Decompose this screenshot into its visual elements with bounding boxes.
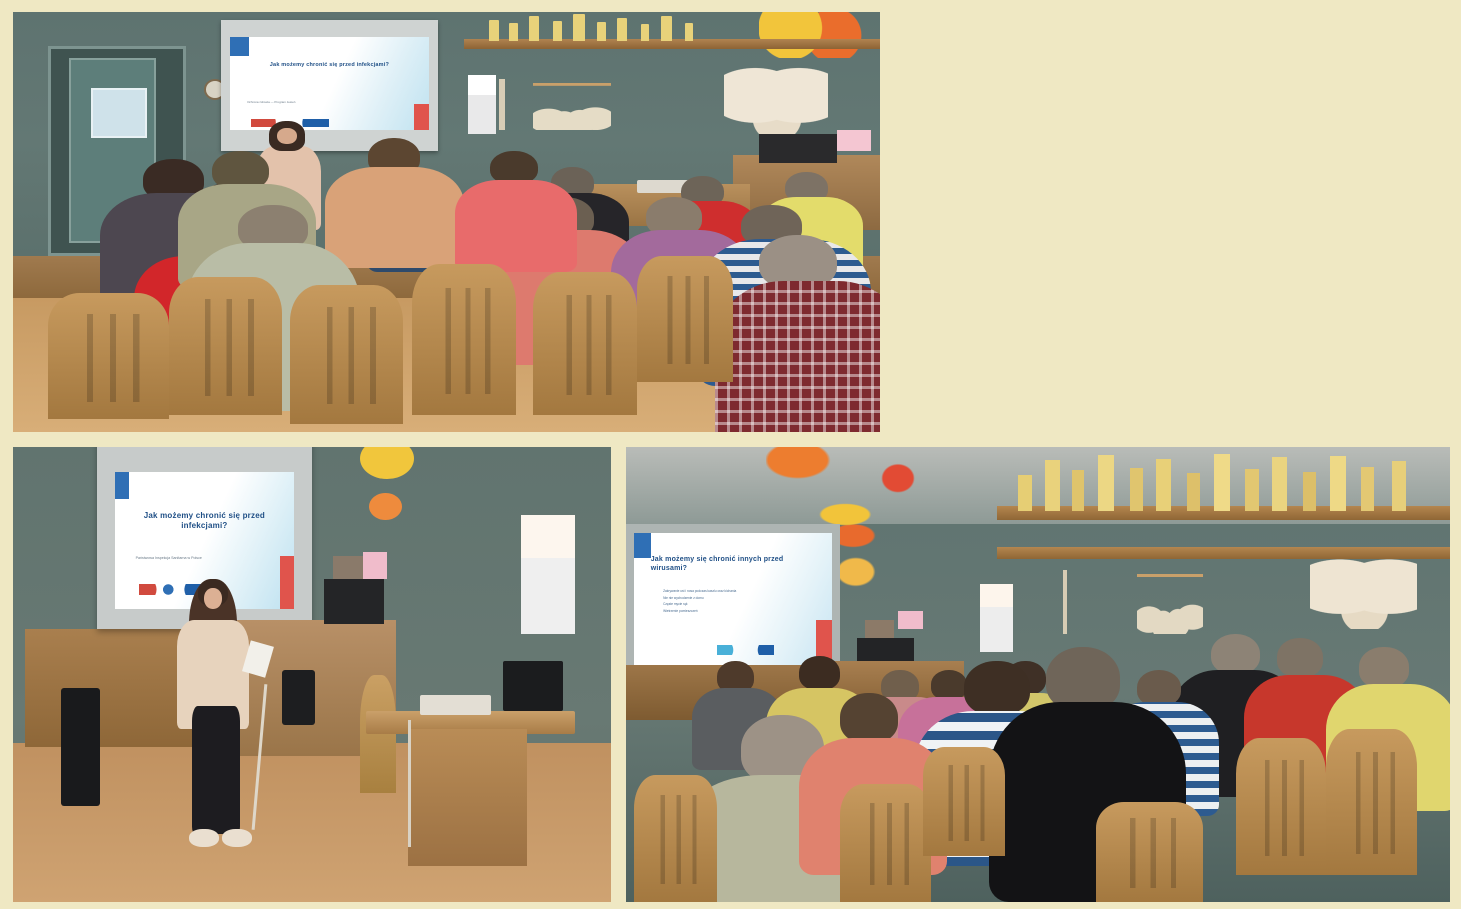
slide-title: Jak możemy się chronić innych przed wiru… [651,556,816,574]
presenter-shoe [222,829,252,847]
slide-corner-blue [634,533,650,558]
chair [533,272,637,415]
chair [290,285,403,424]
slide-bullet: Częste mycie rąk [663,601,803,608]
audience-body [325,167,464,268]
framed-picture [837,130,872,151]
trophy-row [481,12,880,41]
slide-corner-red [414,104,430,129]
chair [169,277,282,416]
wall-calendar [468,75,496,134]
slide-bullet: Wietrzenie pomieszczeń [663,608,803,615]
audience-body [455,180,576,272]
power-cable [408,720,412,847]
presenter-face [277,128,297,145]
photo-presenter-standing: Jak możemy chronić się przed infekcjami?… [13,447,611,902]
presenter-trousers [192,706,240,833]
poster-root: Jak możemy chronić się przed infekcjami?… [0,0,1461,909]
angel-wall-decor [724,67,828,138]
slide-corner-red [280,556,294,608]
framed-picture [363,552,387,579]
framed-photo [865,620,894,638]
chair [412,264,516,415]
audience-head [840,693,898,743]
table-leg [408,729,528,866]
chair [637,256,732,382]
presenter-shoe [189,829,219,847]
wall-calendar [521,515,575,633]
av-equipment [324,579,384,625]
framed-photo [333,556,363,579]
photo-lecture-audience-wide: Jak możemy chronić się przed infekcjami?… [13,12,880,432]
chair [634,775,716,902]
slide-bullet: Zakrywanie ust i nosa podczas kaszlu ora… [663,588,803,595]
hanging-rope-decor [499,79,505,129]
slide-subtitle: Ochrona zdrowia — Program Jesień [247,100,377,105]
loudspeaker [61,688,100,806]
audience-head [799,656,840,690]
projector [420,695,492,715]
loudspeaker [282,670,315,725]
laptop [503,661,563,711]
paper-decoration [369,493,402,520]
audience-body [715,281,880,432]
branding-column: CHRONIMY ZDROWIE Z MYŚLĄ O PRZYSZŁOŚCI 🦅… [900,0,1461,909]
slide-corner-blue [115,472,129,499]
presenter-face [204,588,222,608]
slide-bullet: Nie nie wychodzenie z domu [663,595,803,602]
slide-title: Jak możemy chronić się przed infekcjami? [238,62,420,69]
slide-bullets: Zakrywanie ust i nosa podczas kaszlu ora… [663,588,803,615]
slide-logo-strip [717,645,775,655]
av-equipment [759,134,837,163]
chair [48,293,169,419]
slide-surface [230,37,429,129]
slide-corner-red [816,620,832,661]
slide-corner-blue [230,37,249,56]
wooden-chair [360,675,396,793]
slide-title: Jak możemy chronić się przed infekcjami? [127,511,282,531]
slide-subtitle: Państwowa Inspekcja Sanitarna w Polsce [136,556,232,562]
wooden-spoon-decor [533,83,611,129]
